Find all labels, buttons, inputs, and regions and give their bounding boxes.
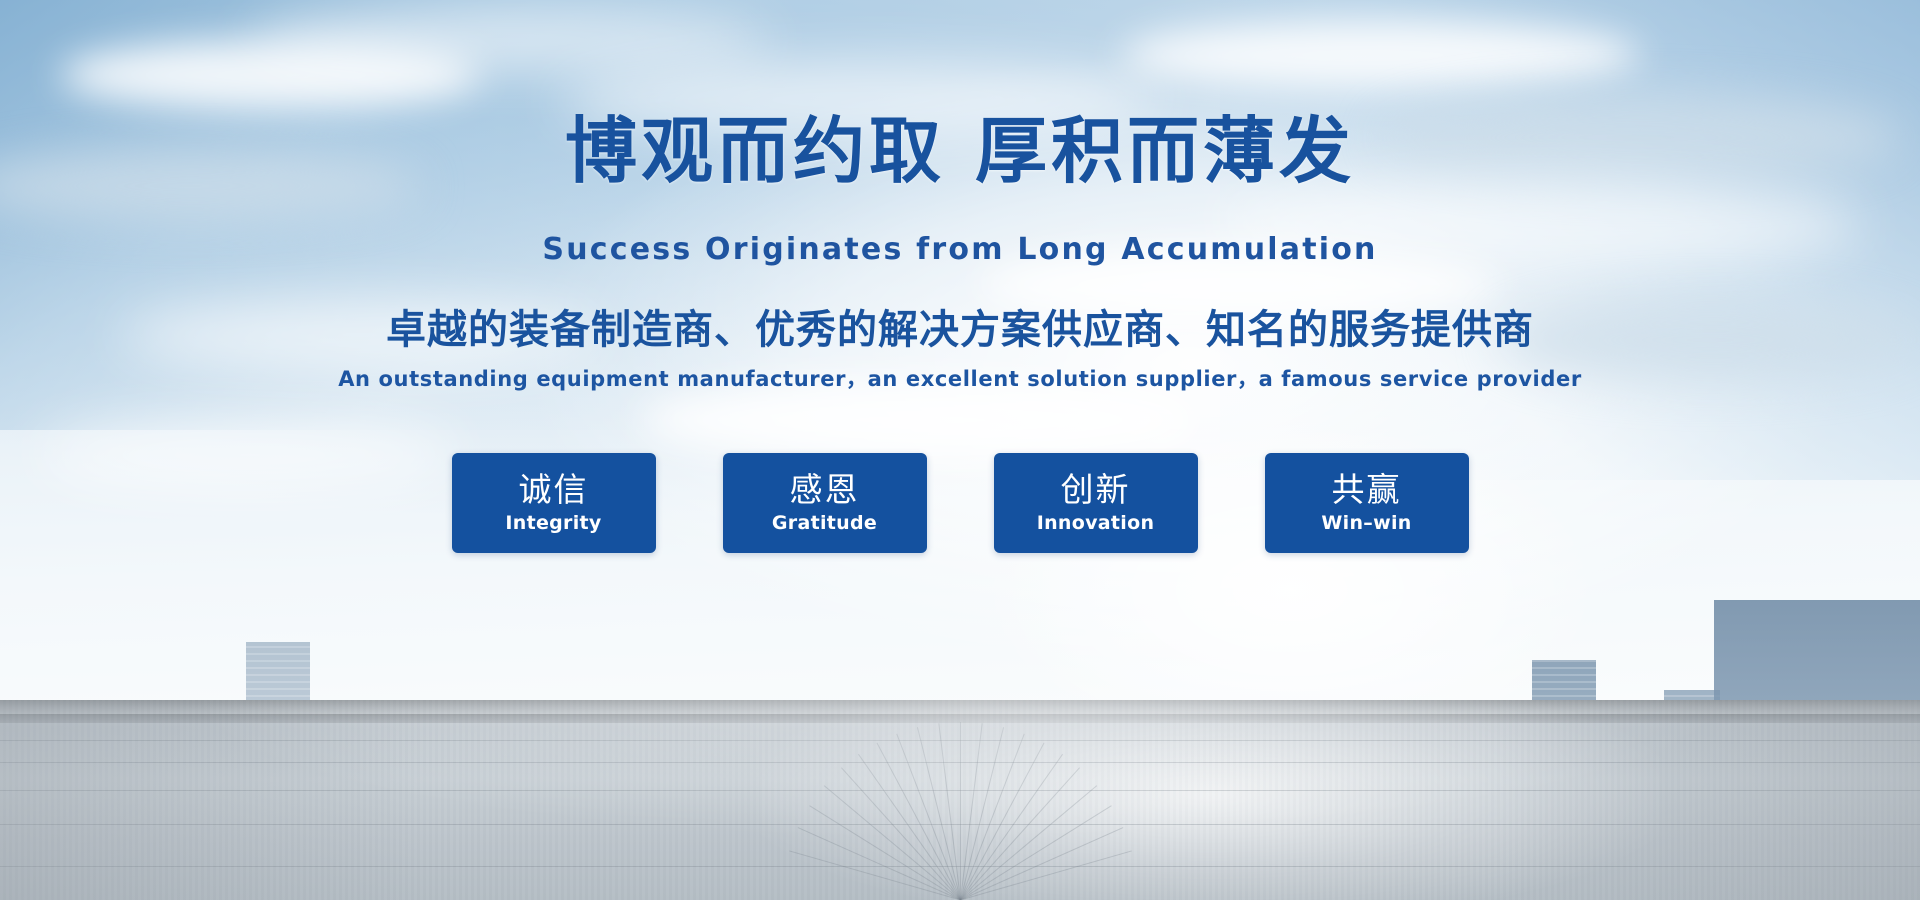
headline-zh-part1: 博观而约取 — [565, 109, 945, 193]
value-box-innovation[interactable]: 创新 Innovation — [994, 453, 1198, 553]
value-box-label-en: Win–win — [1321, 512, 1411, 534]
subheading-english: An outstanding equipment manufacturer，an… — [0, 363, 1920, 393]
hero-banner: 博观而约取厚积而薄发 Success Originates from Long … — [0, 0, 1920, 900]
value-box-label-zh: 共赢 — [1332, 472, 1402, 509]
value-box-integrity[interactable]: 诚信 Integrity — [452, 453, 656, 553]
value-box-label-zh: 诚信 — [519, 472, 589, 509]
value-box-list: 诚信 Integrity 感恩 Gratitude 创新 Innovation … — [0, 453, 1920, 553]
value-box-winwin[interactable]: 共赢 Win–win — [1265, 453, 1469, 553]
value-box-gratitude[interactable]: 感恩 Gratitude — [723, 453, 927, 553]
value-box-label-zh: 创新 — [1061, 472, 1131, 509]
headline-english: Success Originates from Long Accumulatio… — [0, 232, 1920, 267]
subheading-chinese: 卓越的装备制造商、优秀的解决方案供应商、知名的服务提供商 — [0, 297, 1920, 355]
value-box-label-en: Innovation — [1037, 512, 1155, 534]
value-box-label-zh: 感恩 — [790, 472, 860, 509]
value-box-label-en: Gratitude — [772, 512, 877, 534]
headline-zh-part2: 厚积而薄发 — [975, 109, 1355, 193]
page-title: 博观而约取厚积而薄发 — [0, 115, 1920, 187]
value-box-label-en: Integrity — [505, 512, 601, 534]
